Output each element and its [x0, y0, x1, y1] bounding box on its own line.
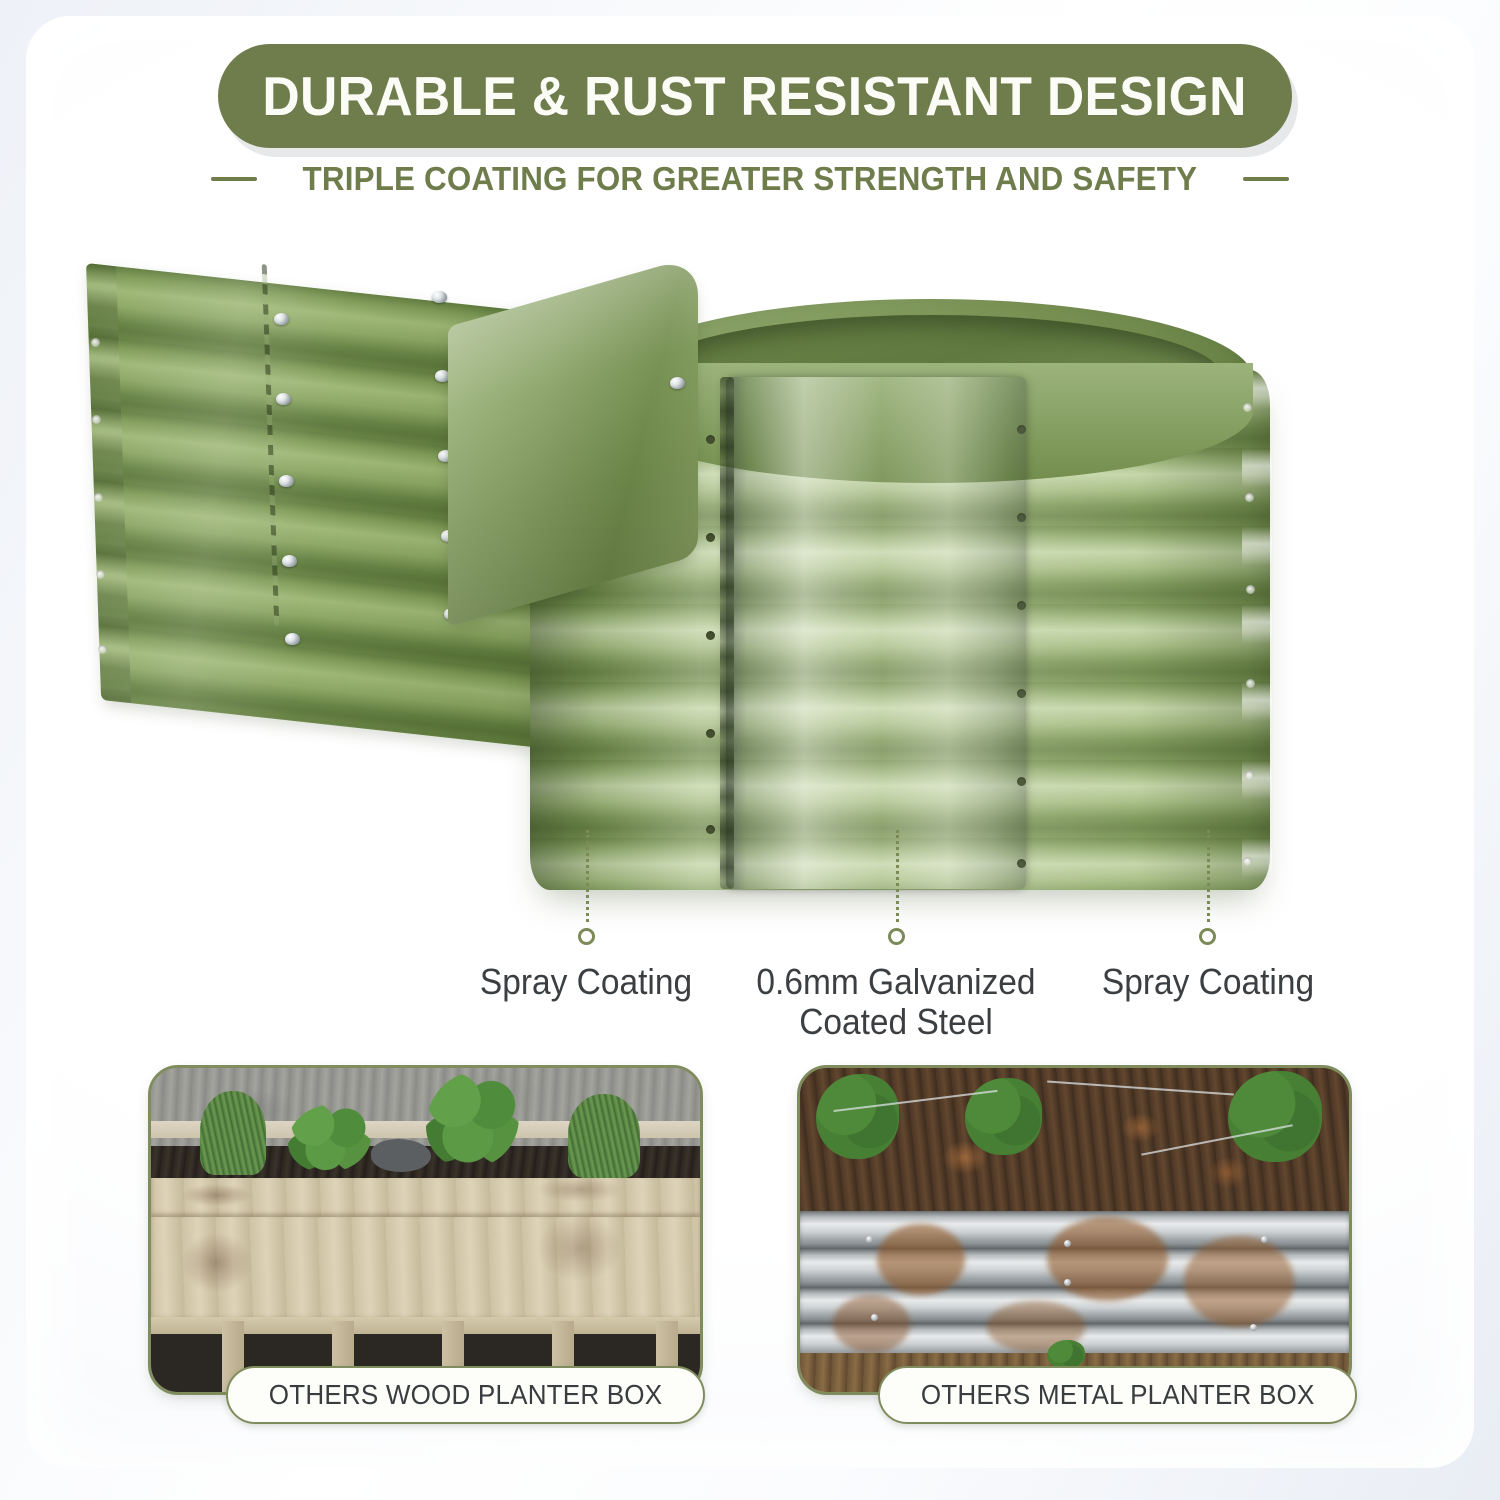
caption-text: OTHERS METAL PLANTER BOX — [921, 1379, 1315, 1411]
caption-text: OTHERS WOOD PLANTER BOX — [269, 1379, 662, 1411]
bolt-hole — [1246, 585, 1255, 594]
rust-stain — [1047, 1217, 1168, 1301]
header-banner: DURABLE & RUST RESISTANT DESIGN — [218, 44, 1292, 148]
screw-icon — [432, 291, 447, 303]
comparison-photo-wood — [148, 1065, 703, 1395]
tomato-plant — [965, 1078, 1042, 1156]
screw-icon — [285, 633, 300, 645]
bolt-hole — [96, 570, 105, 579]
metal-planter-photo — [800, 1068, 1349, 1392]
callout-label: 0.6mm Galvanized Coated Steel — [740, 962, 1052, 1043]
bolt-hole — [1017, 689, 1026, 698]
screw-icon — [279, 475, 294, 487]
tomato-plant — [816, 1074, 898, 1158]
rosemary-plant — [568, 1094, 639, 1178]
tomato-plant — [1228, 1071, 1321, 1162]
rivet-icon — [1064, 1279, 1071, 1286]
subtitle-row: TRIPLE COATING FOR GREATER STRENGTH AND … — [0, 160, 1500, 198]
page-subtitle: TRIPLE COATING FOR GREATER STRENGTH AND … — [303, 160, 1198, 198]
rust-stain — [877, 1224, 965, 1295]
wood-planter-photo — [151, 1068, 700, 1392]
bolt-hole — [98, 645, 107, 654]
dash-right-icon — [1243, 177, 1289, 181]
leader-dot-icon — [578, 928, 595, 945]
leader-dot-icon — [888, 928, 905, 945]
comparison-photo-metal — [797, 1065, 1352, 1395]
rust-stain — [1184, 1236, 1294, 1327]
wood-board — [151, 1178, 700, 1217]
bolt-hole — [94, 493, 103, 502]
page-title: DURABLE & RUST RESISTANT DESIGN — [263, 64, 1247, 128]
rivet-icon — [1064, 1240, 1071, 1247]
caption-wood-planter: OTHERS WOOD PLANTER BOX — [226, 1366, 705, 1424]
rust-stain — [833, 1295, 910, 1353]
wood-board — [151, 1217, 700, 1321]
leader-line — [586, 830, 589, 922]
bolt-hole — [92, 415, 101, 424]
leader-dot-icon — [1199, 928, 1216, 945]
galvanized-cutaway-strip — [726, 377, 1026, 889]
bolt-hole — [1017, 859, 1026, 868]
bolt-hole — [706, 825, 715, 834]
callout-label: Spray Coating — [1069, 962, 1348, 1002]
product-hero-image — [60, 225, 1380, 925]
bolt-hole — [91, 338, 100, 347]
leader-line — [896, 830, 899, 922]
bolt-hole — [1017, 425, 1026, 434]
bolt-hole — [1243, 857, 1252, 866]
caption-metal-planter: OTHERS METAL PLANTER BOX — [878, 1366, 1357, 1424]
callout-label: Spray Coating — [447, 962, 726, 1002]
bolt-hole — [1017, 777, 1026, 786]
bolt-hole — [706, 435, 715, 444]
mulch-clump — [371, 1139, 431, 1171]
bolt-hole — [1246, 679, 1255, 688]
bolt-hole — [1017, 601, 1026, 610]
screw-icon — [276, 393, 291, 405]
bolt-hole — [706, 631, 715, 640]
infographic-canvas: DURABLE & RUST RESISTANT DESIGN TRIPLE C… — [0, 0, 1500, 1500]
bolt-hole — [706, 729, 715, 738]
bolt-hole — [1245, 493, 1254, 502]
bolt-hole — [1243, 403, 1252, 412]
bolt-hole — [1017, 513, 1026, 522]
screw-icon — [670, 377, 685, 389]
galvanized-seam — [720, 377, 734, 889]
leader-line — [1207, 830, 1210, 922]
bolt-hole — [706, 533, 715, 542]
rosemary-plant — [200, 1091, 266, 1175]
bolt-hole — [1245, 771, 1254, 780]
screw-icon — [282, 555, 297, 567]
screw-icon — [274, 313, 289, 325]
dash-left-icon — [211, 177, 257, 181]
